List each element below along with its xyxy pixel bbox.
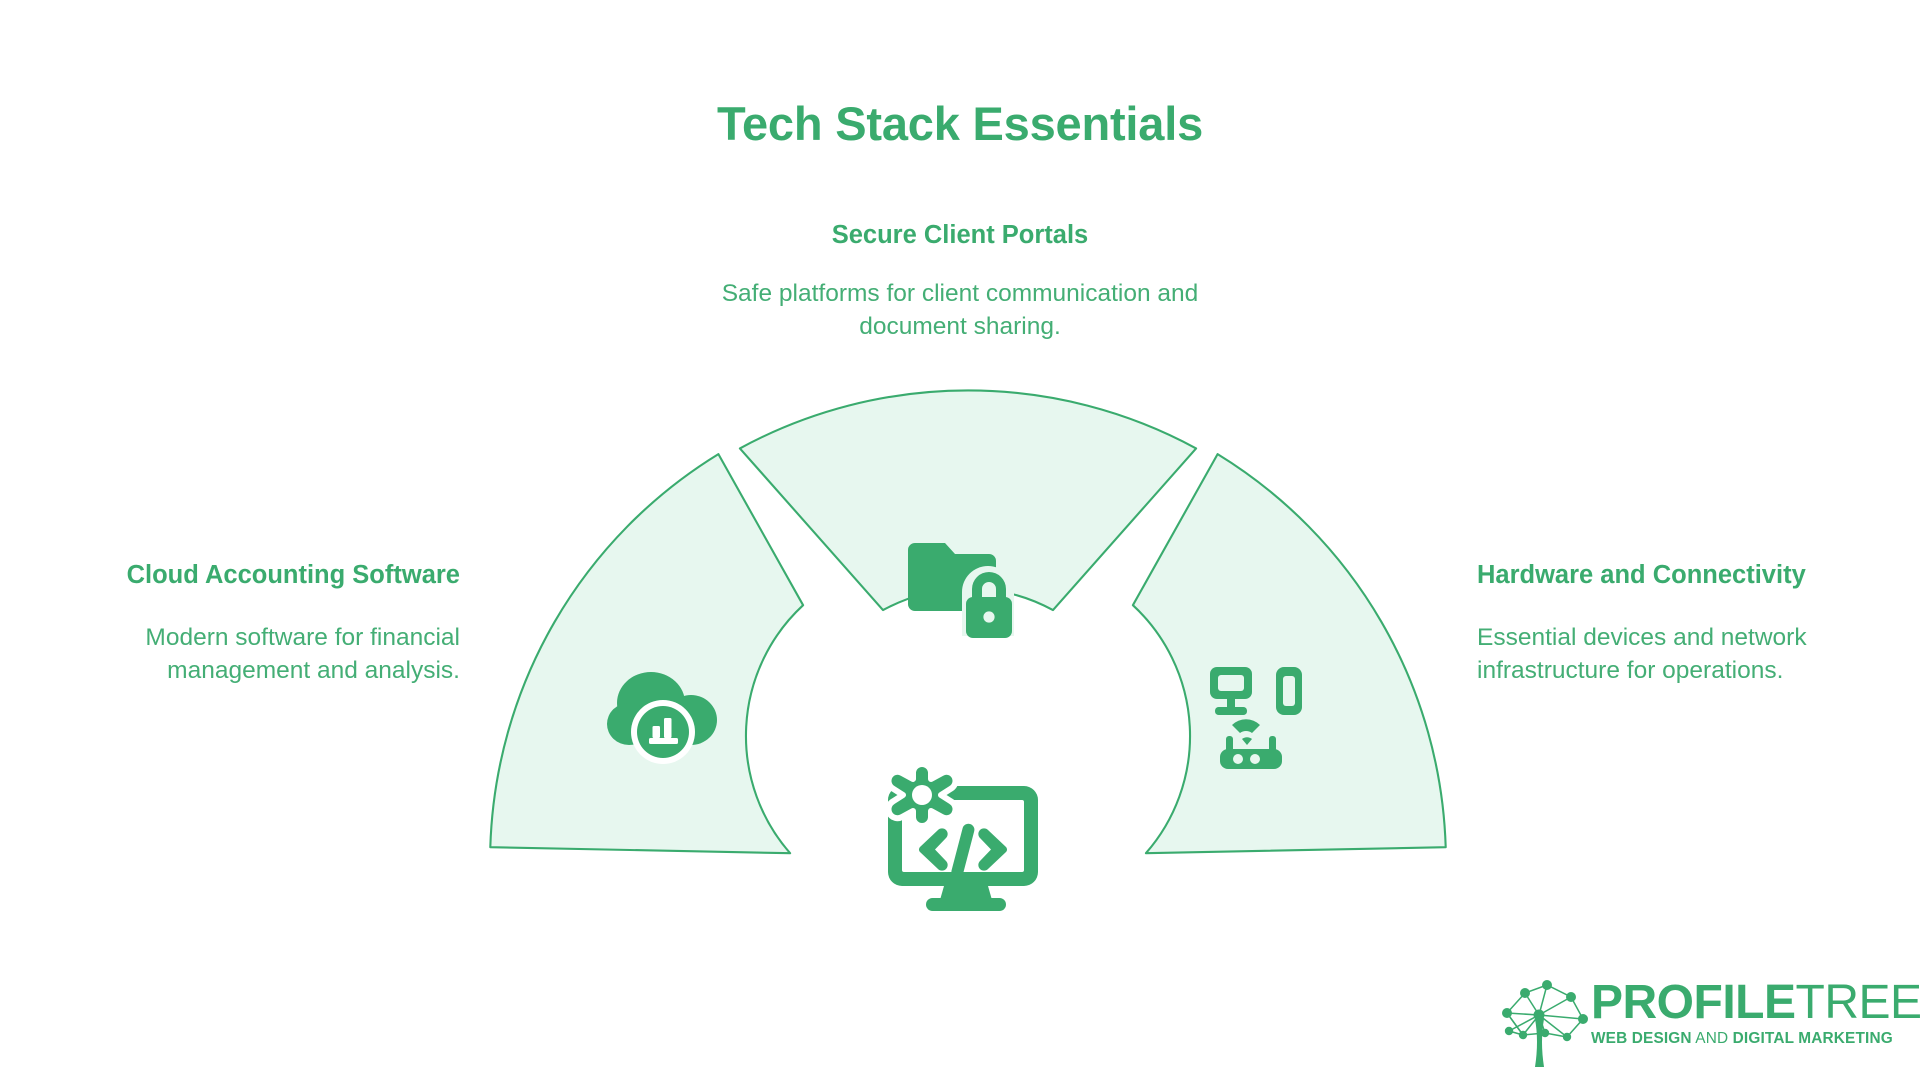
slide-canvas: Tech Stack Essentials Secure Client Port… [0,0,1920,1080]
logo-tagline-b: AND [1695,1030,1728,1047]
segment-text-right: Hardware and Connectivity Essential devi… [1477,558,1877,687]
cloud-chart-icon [605,668,727,764]
segment-title-secure-client-portals: Secure Client Portals [710,218,1210,252]
segment-title-hardware-and-connectivity: Hardware and Connectivity [1477,558,1877,592]
logo-tagline-a: WEB DESIGN [1591,1030,1692,1047]
folder-lock-icon [900,538,1024,642]
logo-word-tree: TREE [1796,976,1920,1029]
page-title: Tech Stack Essentials [0,98,1920,151]
logo-word: PROFILETREE [1591,979,1897,1026]
logo-word-profile: PROFILE [1591,976,1796,1029]
logo-wordmark: PROFILETREE WEB DESIGN AND DIGITAL MARKE… [1591,979,1897,1046]
network-tree-icon [1495,975,1593,1067]
segment-body-hardware-and-connectivity: Essential devices and network infrastruc… [1477,622,1877,686]
fan-segment-right[interactable] [1133,454,1446,853]
segment-body-secure-client-portals: Safe platforms for client communication … [710,278,1210,342]
logo-tagline-c: DIGITAL MARKETING [1733,1030,1893,1047]
devices-router-icon [1206,663,1322,771]
segment-body-cloud-accounting-software: Modern software for financial management… [55,622,460,686]
monitor-code-gear-icon [878,758,1054,918]
logo-tagline: WEB DESIGN AND DIGITAL MARKETING [1591,1031,1897,1046]
profiletree-logo: PROFILETREE WEB DESIGN AND DIGITAL MARKE… [1495,975,1895,1067]
fan-segment-left[interactable] [490,454,803,853]
segment-text-left: Cloud Accounting Software Modern softwar… [55,558,460,687]
segment-text-top: Secure Client Portals Safe platforms for… [710,218,1210,343]
segment-title-cloud-accounting-software: Cloud Accounting Software [55,558,460,592]
